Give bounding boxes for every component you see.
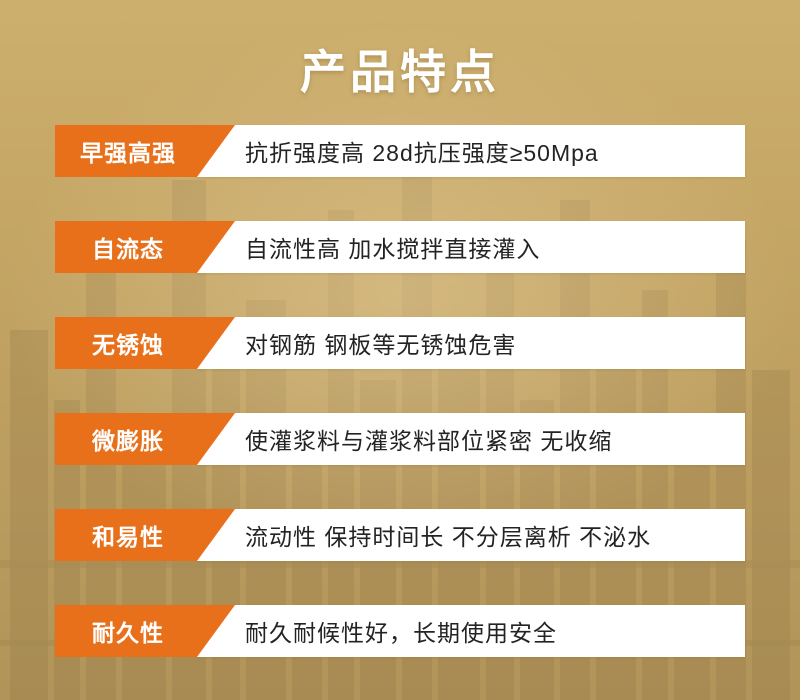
list-item: 和易性 流动性 保持时间长 不分层离析 不泌水 [55,509,745,561]
feature-text: 自流性高 加水搅拌直接灌入 [197,221,745,273]
page-title: 产品特点 [0,36,800,102]
list-item: 无锈蚀 对钢筋 钢板等无锈蚀危害 [55,317,745,369]
feature-text: 使灌浆料与灌浆料部位紧密 无收缩 [197,413,745,465]
feature-tag: 和易性 [55,509,197,561]
feature-tag: 自流态 [55,221,197,273]
feature-tag: 早强高强 [55,125,197,177]
list-item: 微膨胀 使灌浆料与灌浆料部位紧密 无收缩 [55,413,745,465]
list-item: 自流态 自流性高 加水搅拌直接灌入 [55,221,745,273]
product-features-poster: 产品特点 早强高强 抗折强度高 28d抗压强度≥50Mpa 自流态 自流性高 加… [0,0,800,700]
feature-list: 早强高强 抗折强度高 28d抗压强度≥50Mpa 自流态 自流性高 加水搅拌直接… [55,125,745,700]
list-item: 早强高强 抗折强度高 28d抗压强度≥50Mpa [55,125,745,177]
list-item: 耐久性 耐久耐候性好，长期使用安全 [55,605,745,657]
feature-text: 流动性 保持时间长 不分层离析 不泌水 [197,509,745,561]
feature-text: 对钢筋 钢板等无锈蚀危害 [197,317,745,369]
feature-tag: 耐久性 [55,605,197,657]
feature-tag: 微膨胀 [55,413,197,465]
feature-text: 耐久耐候性好，长期使用安全 [197,605,745,657]
feature-tag: 无锈蚀 [55,317,197,369]
feature-text: 抗折强度高 28d抗压强度≥50Mpa [197,125,745,177]
